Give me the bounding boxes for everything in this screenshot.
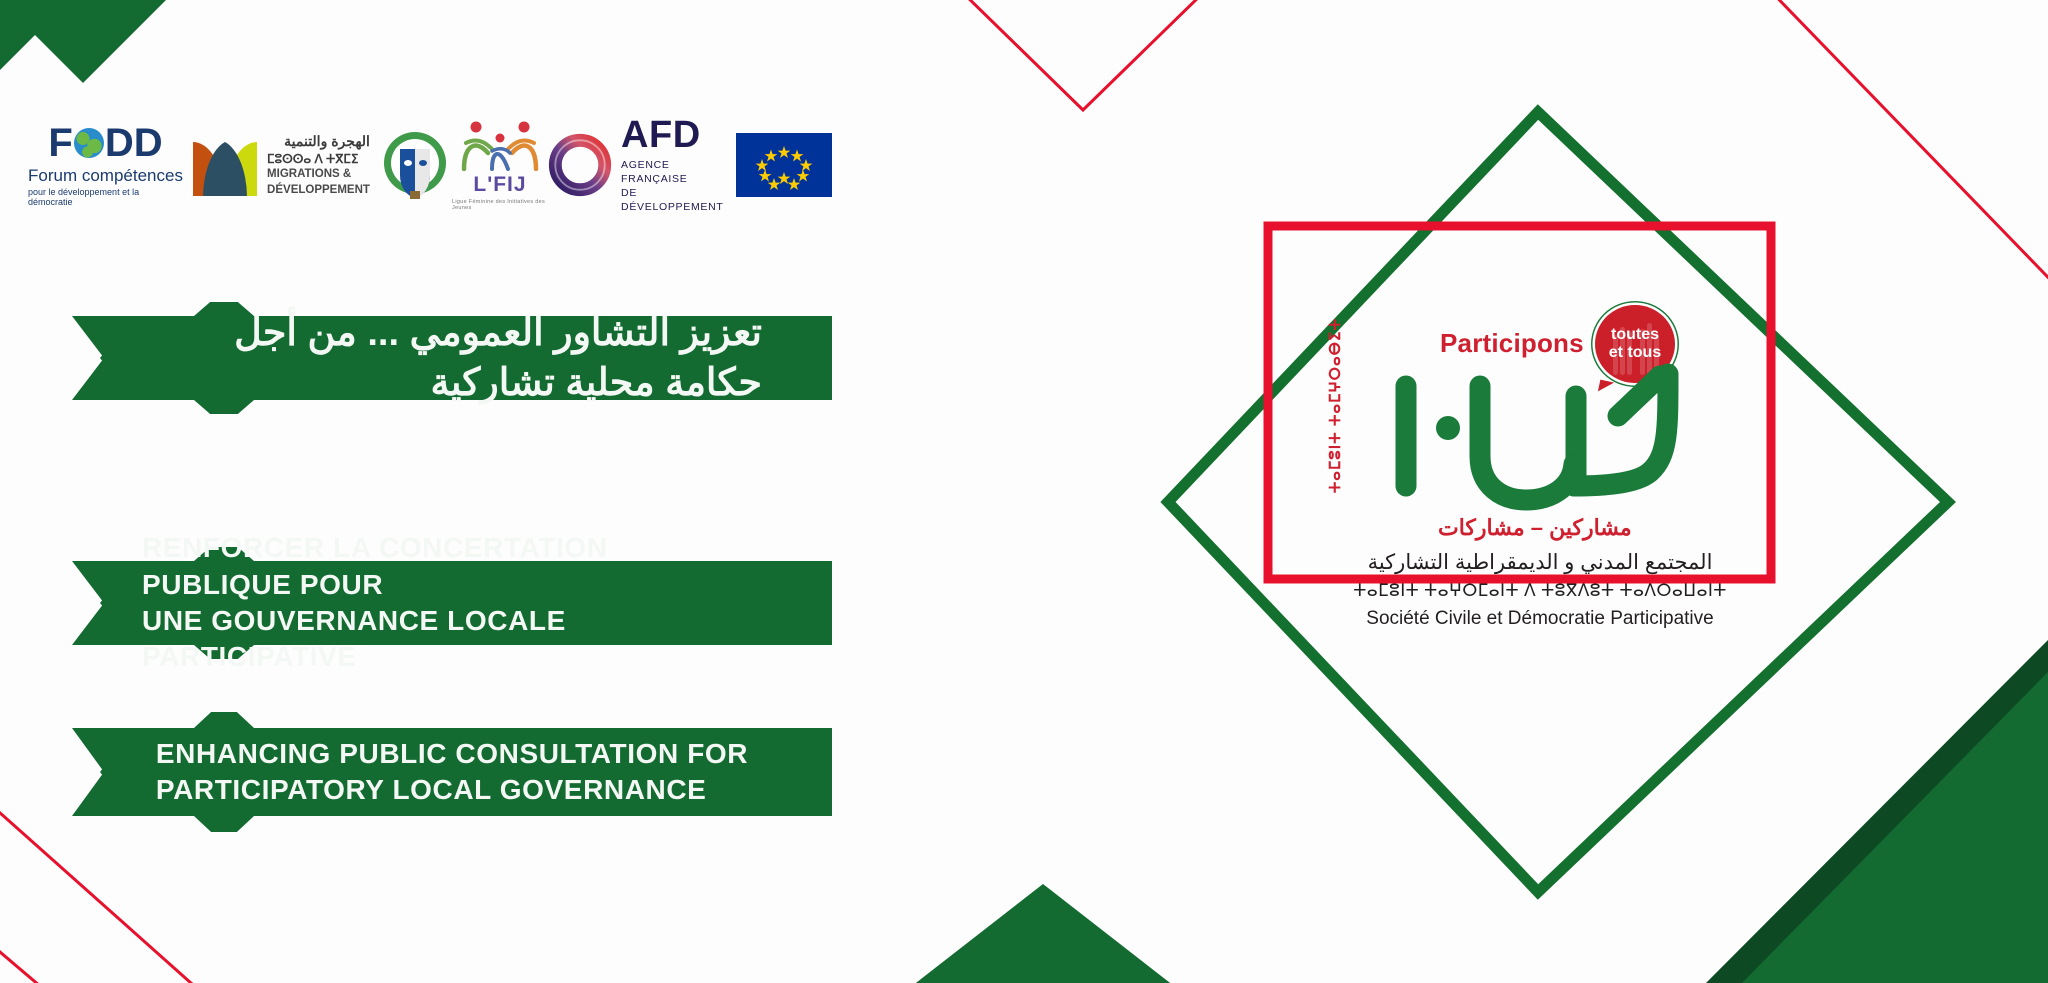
banner-english-line-2: PARTICIPATORY LOCAL GOVERNANCE	[156, 772, 748, 808]
banner-title-english: ENHANCING PUBLIC CONSULTATION FOR PARTIC…	[72, 712, 832, 832]
fodd-subtitle: Forum compétences	[28, 166, 183, 186]
globe-icon	[74, 128, 104, 158]
partner-logo-fodd: F DD Forum compétences pour le développe…	[28, 123, 183, 207]
emblem-line-tifinagh: ⵜⴰⵎⵓⵏⵜ ⵜⴰⵖⵔⵎⴰⵏⵜ ⴷ ⵜⵓⴳⴷⵓⵜ ⵜⴰⴷⵔⴰⵡⴰⵏⵜ	[1330, 581, 1750, 601]
banner-arabic-text: تعزيز التشاور العمومي ... من أجل حكامة م…	[72, 308, 832, 408]
bubble-line-1: toutes	[1611, 326, 1659, 344]
banner-title-arabic: تعزيز التشاور العمومي ... من أجل حكامة م…	[72, 302, 832, 414]
lfij-people-icon	[458, 119, 542, 171]
emblem-tifinagh-vertical: ⵜⴰⵎⵓⵏⵜ ⵜⴰⵎⵖⵔⴰⴱⵉⵜ	[1327, 318, 1345, 493]
partner-logo-migration-developpement: الهجرة والتنمية ⵎⵓⵙⵙⴰ ⴷ ⵜⴳⵎⵉ MIGRATIONS …	[183, 132, 378, 198]
emblem-line-arabic: المجتمع المدني و الديمقراطية التشاركية	[1330, 550, 1750, 575]
red-chevron-top	[960, 0, 1206, 110]
fodd-subtitle-2: pour le développement et la démocratie	[28, 187, 183, 207]
kolona-emblem: ⵜⴰⵎⵓⵏⵜ ⵜⴰⵎⵖⵔⴰⴱⵉⵜ Participons toutes et t…	[1330, 300, 1750, 620]
poster-canvas: F DD Forum compétences pour le développe…	[0, 0, 2048, 983]
banner-english-line-1: ENHANCING PUBLIC CONSULTATION FOR	[156, 736, 748, 772]
migration-development-mark	[191, 132, 259, 198]
fodd-word-right: DD	[105, 123, 163, 163]
migdev-tifinagh: ⵎⵓⵙⵙⴰ ⴷ ⵜⴳⵎⵉ	[267, 151, 370, 167]
corner-triangle-bottom-center	[894, 884, 1192, 983]
eu-flag-icon	[736, 133, 832, 197]
partner-logo-afd: AFD AGENCE FRANÇAISE DE DÉVELOPPEMENT	[548, 116, 736, 215]
banner-french-line-2: UNE GOUVERNANCE LOCALE PARTICIPATIVE	[142, 603, 762, 676]
emblem-brand-arabic-glyph	[1350, 360, 1710, 530]
partner-logo-association-mask	[378, 129, 452, 201]
migdev-line-1: MIGRATIONS &	[267, 167, 370, 183]
migdev-line-2: DÉVELOPPEMENT	[267, 183, 370, 199]
emblem-participons-label: Participons	[1440, 328, 1584, 359]
fodd-word-left: F	[48, 123, 72, 163]
partner-logo-lfij: L'FIJ Ligue Féminine des Initiatives des…	[452, 119, 548, 211]
lfij-subtitle: Ligue Féminine des Initiatives des Jeune…	[452, 199, 548, 211]
partner-logo-european-union	[736, 133, 832, 197]
banner-french-line-1: RENFORCER LA CONCERTATION PUBLIQUE POUR	[142, 530, 762, 603]
association-mask-logo	[380, 129, 450, 201]
partner-logo-strip: F DD Forum compétences pour le développe…	[28, 110, 888, 220]
emblem-line-french: Société Civile et Démocratie Participati…	[1330, 608, 1750, 630]
afd-ring-icon	[548, 131, 612, 199]
afd-line-2: DE DÉVELOPPEMENT	[621, 186, 736, 214]
noon-dot	[1436, 416, 1460, 440]
afd-line-1: AGENCE FRANÇAISE	[621, 158, 736, 186]
afd-name: AFD	[621, 116, 736, 154]
banner-title-french: RENFORCER LA CONCERTATION PUBLIQUE POUR …	[72, 547, 832, 659]
red-diagonal-bottom-left-2	[0, 935, 80, 983]
red-diagonal-top-right	[1760, 0, 2048, 300]
migdev-arabic: الهجرة والتنمية	[267, 132, 370, 151]
lfij-name: L'FIJ	[473, 173, 526, 197]
emblem-subtitle-arabic-red: مشاركين – مشاركات	[1438, 515, 1632, 541]
